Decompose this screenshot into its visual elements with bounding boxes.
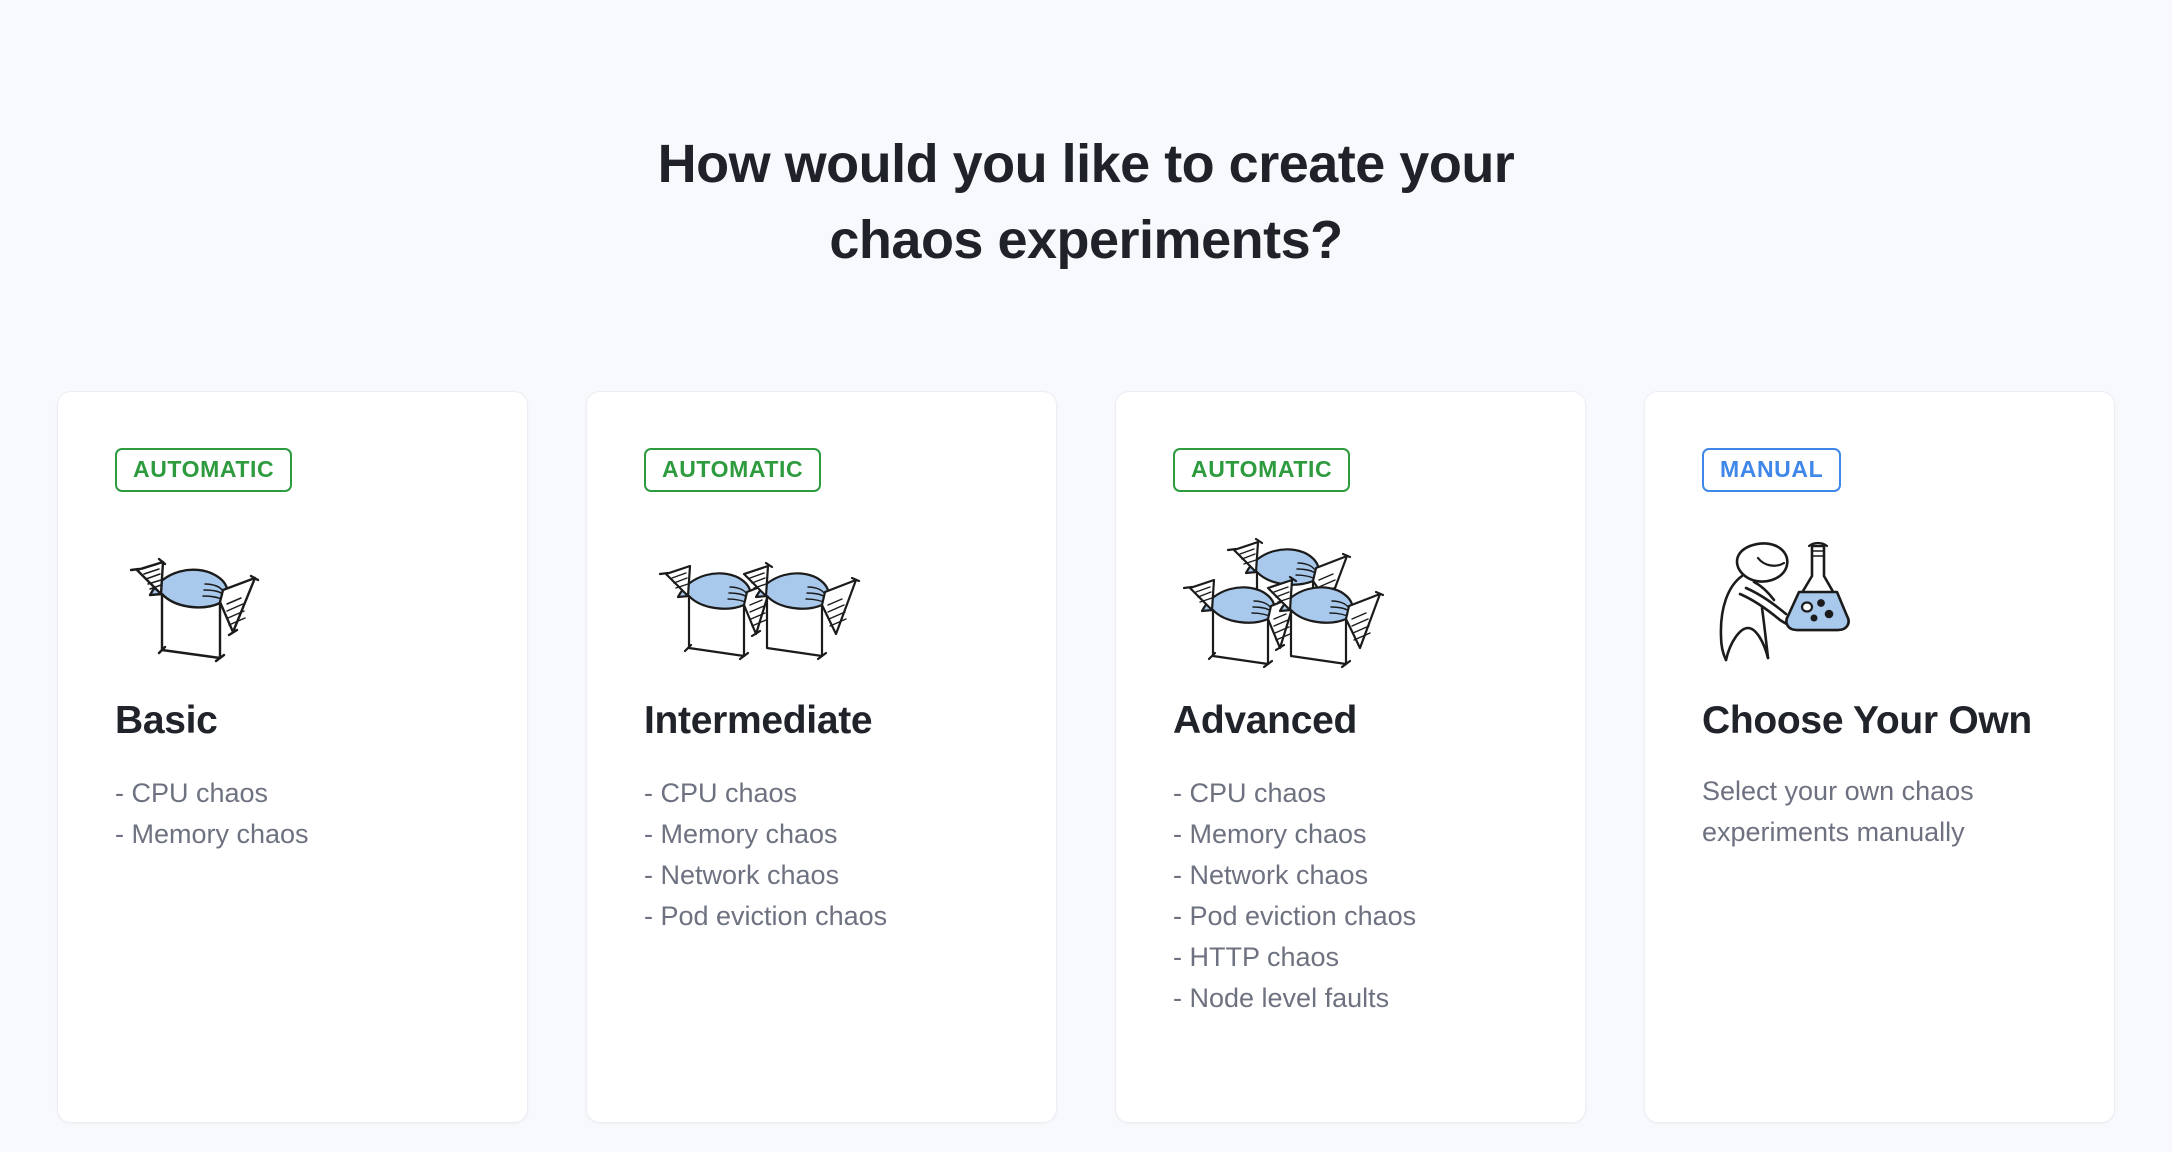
list-item: - CPU chaos (644, 773, 1056, 814)
experiment-mode-card-choose-your-own[interactable]: MANUAL (1644, 391, 2115, 1123)
page-title: How would you like to create your chaos … (0, 126, 2172, 278)
experiment-mode-card-advanced[interactable]: AUTOMATIC (1115, 391, 1586, 1123)
list-item: - HTTP chaos (1173, 937, 1585, 978)
scientist-flask-illustration (1702, 532, 2114, 672)
card-feature-list: - CPU chaos - Memory chaos (115, 773, 527, 855)
status-badge-automatic: AUTOMATIC (1173, 448, 1350, 492)
card-feature-list: - CPU chaos - Memory chaos - Network cha… (644, 773, 1056, 937)
list-item: - Network chaos (644, 855, 1056, 896)
experiment-mode-card-intermediate[interactable]: AUTOMATIC (586, 391, 1057, 1123)
create-experiment-page: How would you like to create your chaos … (0, 0, 2172, 1152)
status-badge-manual: MANUAL (1702, 448, 1841, 492)
page-title-line-2: chaos experiments? (0, 202, 2172, 278)
page-title-line-1: How would you like to create your (0, 126, 2172, 202)
list-item: - Pod eviction chaos (644, 896, 1056, 937)
list-item: - Memory chaos (115, 814, 527, 855)
status-badge-automatic: AUTOMATIC (115, 448, 292, 492)
card-title: Choose Your Own (1702, 700, 2114, 743)
status-badge-automatic: AUTOMATIC (644, 448, 821, 492)
two-boxes-illustration (644, 532, 1056, 672)
list-item: - Network chaos (1173, 855, 1585, 896)
experiment-mode-card-list: AUTOMATIC (57, 391, 2115, 1123)
three-boxes-illustration (1173, 532, 1585, 672)
card-description: Select your own chaos experiments manual… (1702, 771, 2002, 853)
card-title: Basic (115, 700, 527, 743)
list-item: - Pod eviction chaos (1173, 896, 1585, 937)
list-item: - Node level faults (1173, 978, 1585, 1019)
list-item: - CPU chaos (115, 773, 527, 814)
card-feature-list: - CPU chaos - Memory chaos - Network cha… (1173, 773, 1585, 1019)
list-item: - CPU chaos (1173, 773, 1585, 814)
list-item: - Memory chaos (644, 814, 1056, 855)
card-title: Advanced (1173, 700, 1585, 743)
one-box-illustration (115, 532, 527, 672)
list-item: - Memory chaos (1173, 814, 1585, 855)
card-title: Intermediate (644, 700, 1056, 743)
experiment-mode-card-basic[interactable]: AUTOMATIC (57, 391, 528, 1123)
